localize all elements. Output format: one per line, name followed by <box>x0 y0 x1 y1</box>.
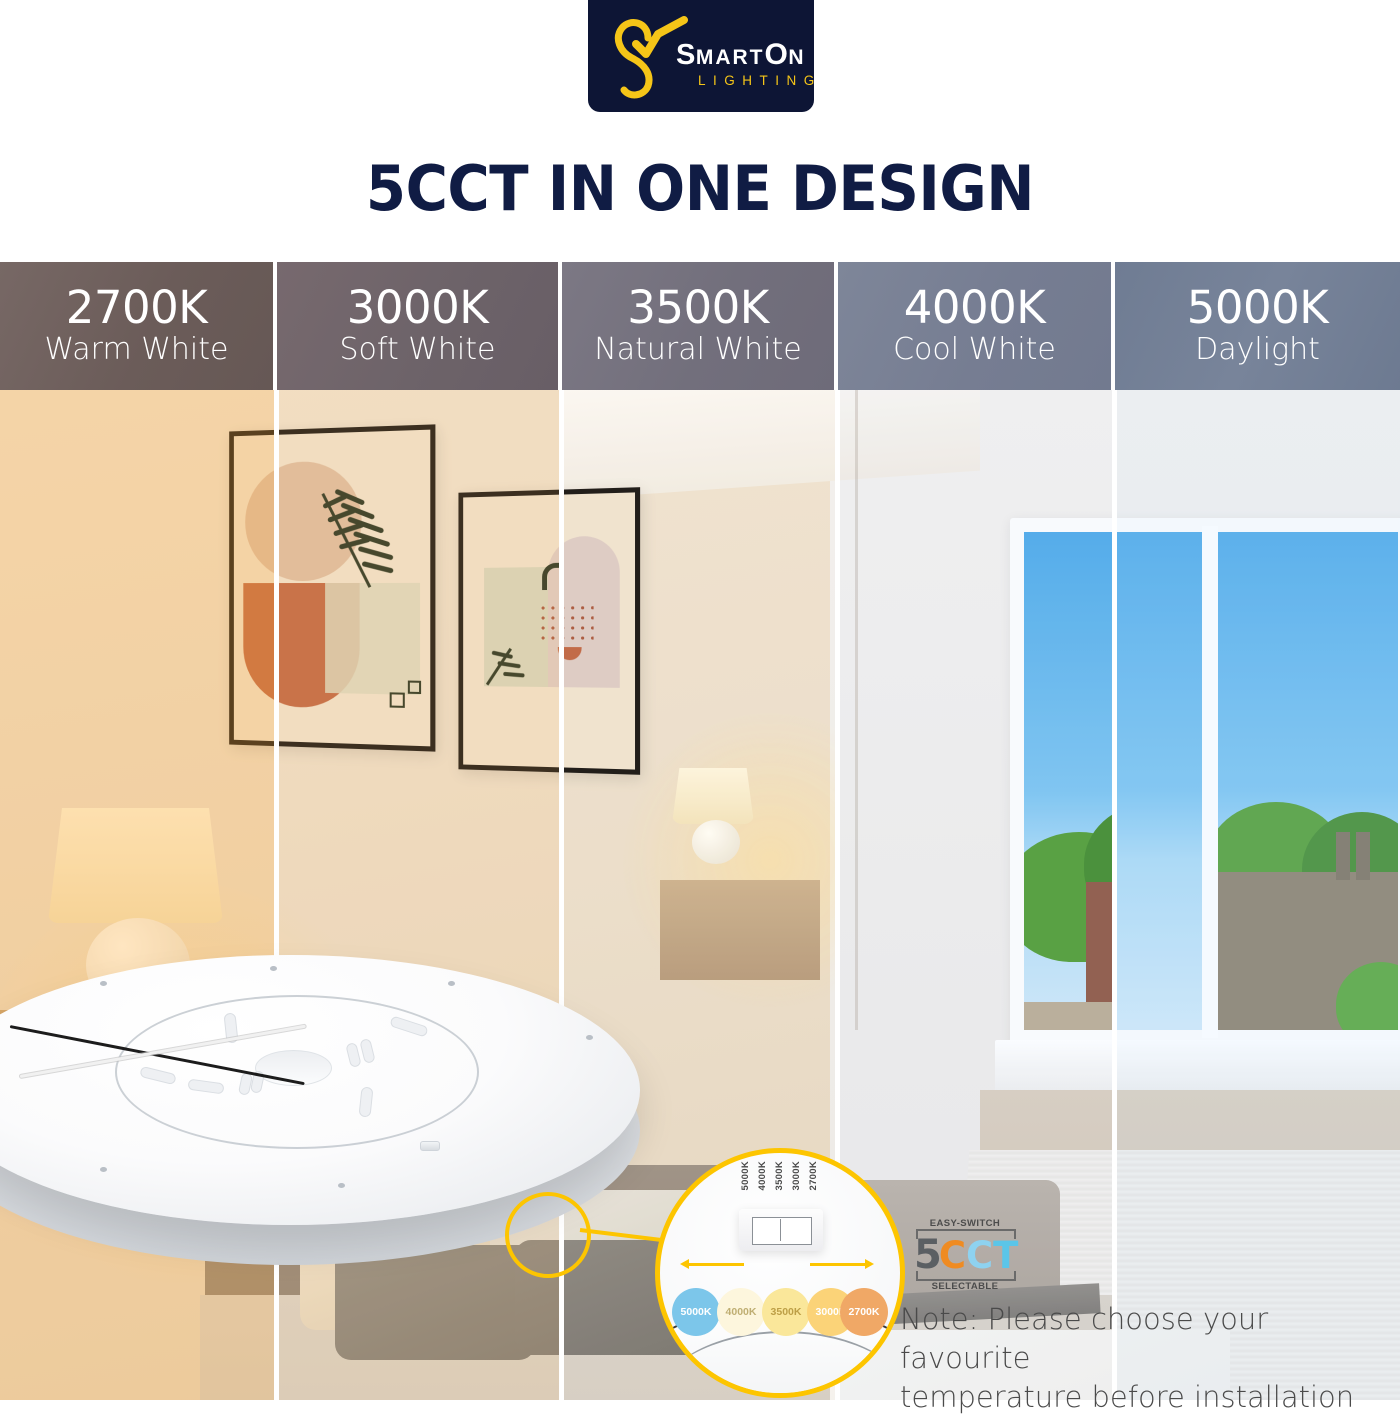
cct-kelvin: 4000K <box>904 285 1046 331</box>
brand-name-mart: MART <box>696 46 765 69</box>
cct-cell-2700k[interactable]: 2700K Warm White <box>0 262 277 390</box>
arrow-left-icon <box>688 1263 744 1266</box>
badge-top-label: EASY-SWITCH <box>920 1218 1010 1229</box>
brand-name-smart: S <box>676 39 696 71</box>
badge-letter-c1: C <box>939 1237 966 1274</box>
cct-cell-4000k[interactable]: 4000K Cool White <box>838 262 1115 390</box>
cct-name: Natural White <box>594 333 801 368</box>
cct-cell-5000k[interactable]: 5000K Daylight <box>1115 262 1400 390</box>
easy-switch-badge: EASY-SWITCH 5 C C T SELECTABLE <box>912 1218 1016 1292</box>
dip-label-5000k: 5000K <box>740 1161 751 1191</box>
cct-name: Warm White <box>45 333 229 368</box>
page-header: SMARTON LIGHTING 5CCT IN ONE DESIGN <box>0 0 1400 262</box>
cct-kelvin: 5000K <box>1187 285 1329 331</box>
cct-kelvin: 2700K <box>66 285 208 331</box>
note-line-2: temperature before installation <box>900 1378 1380 1417</box>
badge-5cct: 5 C C T <box>914 1233 1014 1277</box>
wall-art-left <box>229 424 277 751</box>
dip-switch-lever[interactable] <box>754 1219 781 1241</box>
badge-digit-5: 5 <box>914 1235 942 1275</box>
swatch-4000k: 4000K <box>717 1288 765 1336</box>
scene-slice-5000k <box>1115 390 1400 1400</box>
cct-cell-3500k[interactable]: 3500K Natural White <box>562 262 838 390</box>
cct-kelvin: 3000K <box>347 285 489 331</box>
badge-letter-t: T <box>993 1237 1018 1274</box>
dip-label-4000k: 4000K <box>757 1161 768 1191</box>
room-render <box>1115 390 1400 1400</box>
callout-highlight-circle <box>505 1192 591 1278</box>
badge-letter-c2: C <box>966 1237 993 1274</box>
brand-name: SMARTON <box>676 40 804 70</box>
lamp-shade-left <box>48 808 223 923</box>
cct-kelvin: 3500K <box>627 285 769 331</box>
cct-name: Daylight <box>1195 333 1320 368</box>
brand-logo[interactable]: SMARTON LIGHTING <box>588 0 814 112</box>
cct-name: Soft White <box>340 333 496 368</box>
swatch-label: 3500K <box>771 1306 802 1318</box>
arrow-right-icon <box>810 1263 866 1266</box>
dip-switch-magnifier: 5000K 4000K 3500K 3000K 2700K 5000K 4000… <box>655 1148 905 1398</box>
dip-label-3000k: 3000K <box>791 1161 802 1191</box>
cct-name: Cool White <box>893 333 1056 368</box>
brand-tagline: LIGHTING <box>698 73 814 88</box>
dip-label-2700k: 2700K <box>808 1161 819 1191</box>
note-line-1: Note: Please choose your favourite <box>900 1300 1380 1378</box>
slice-divider <box>1112 390 1117 1400</box>
badge-bottom-label: SELECTABLE <box>920 1281 1010 1292</box>
swatch-label: 2700K <box>849 1306 880 1318</box>
cct-cell-3000k[interactable]: 3000K Soft White <box>277 262 562 390</box>
brand-name-o: O <box>765 38 789 71</box>
product-ceiling-light <box>0 955 700 1285</box>
swatch-label: 4000K <box>726 1306 757 1318</box>
page-title: 5CCT IN ONE DESIGN <box>49 152 1351 225</box>
swatch-5000k: 5000K <box>672 1288 720 1336</box>
brand-name-n: N <box>788 46 804 69</box>
dip-label-3500k: 3500K <box>774 1161 785 1191</box>
installation-note: Note: Please choose your favourite tempe… <box>900 1300 1380 1417</box>
bed <box>200 1295 277 1400</box>
swatch-2700k: 2700K <box>840 1288 888 1336</box>
swatch-3500k: 3500K <box>762 1288 810 1336</box>
cct-label-band: 2700K Warm White 3000K Soft White 3500K … <box>0 262 1400 390</box>
cct-dip-switch[interactable] <box>420 1141 440 1151</box>
swatch-label: 5000K <box>681 1306 712 1318</box>
